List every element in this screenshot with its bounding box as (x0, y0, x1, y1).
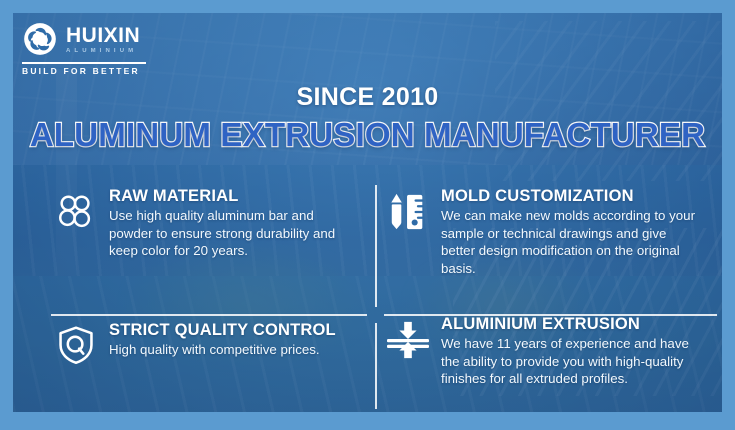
logo-text-block: HUIXIN ALUMINIUM (66, 25, 140, 54)
feature-text: RAW MATERIAL Use high quality aluminum b… (109, 187, 343, 260)
feature-description: We have 11 years of experience and have … (441, 335, 695, 388)
extrusion-press-icon (385, 315, 431, 388)
page-title: ALUMINUM EXTRUSION MANUFACTURER (13, 118, 722, 153)
feature-card-raw-material: RAW MATERIAL Use high quality aluminum b… (53, 187, 343, 260)
headline-block: SINCE 2010 ALUMINUM EXTRUSION MANUFACTUR… (13, 85, 722, 153)
banner-inner-frame: HUIXIN ALUMINIUM BUILD FOR BETTER SINCE … (13, 13, 722, 412)
feature-text: ALUMINIUM EXTRUSION We have 11 years of … (441, 315, 695, 388)
aluminum-billets-icon (53, 187, 99, 260)
feature-card-mold-customization: MOLD CUSTOMIZATION We can make new molds… (385, 187, 695, 277)
brand-tagline: BUILD FOR BETTER (22, 66, 200, 76)
brand-name: HUIXIN (66, 25, 140, 46)
feature-description: Use high quality aluminum bar and powder… (109, 207, 343, 260)
promo-banner: HUIXIN ALUMINIUM BUILD FOR BETTER SINCE … (0, 0, 735, 430)
pencil-ruler-icon (385, 187, 431, 277)
feature-text: STRICT QUALITY CONTROL High quality with… (109, 321, 343, 365)
logo-row: HUIXIN ALUMINIUM (20, 19, 200, 59)
feature-description: High quality with competitive prices. (109, 341, 343, 359)
feature-card-quality-control: STRICT QUALITY CONTROL High quality with… (53, 321, 343, 365)
feature-title: RAW MATERIAL (109, 187, 343, 205)
shield-quality-icon (53, 321, 99, 365)
brand-subtitle: ALUMINIUM (66, 48, 140, 54)
feature-grid: RAW MATERIAL Use high quality aluminum b… (25, 173, 710, 401)
eyebrow-text: SINCE 2010 (13, 85, 722, 110)
brand-logo: HUIXIN ALUMINIUM BUILD FOR BETTER (20, 19, 200, 76)
feature-card-aluminium-extrusion: ALUMINIUM EXTRUSION We have 11 years of … (385, 315, 695, 388)
logo-divider (22, 62, 146, 64)
feature-title: STRICT QUALITY CONTROL (109, 321, 343, 339)
feature-text: MOLD CUSTOMIZATION We can make new molds… (441, 187, 695, 277)
feature-description: We can make new molds according to your … (441, 207, 695, 277)
feature-title: ALUMINIUM EXTRUSION (441, 315, 695, 333)
feature-title: MOLD CUSTOMIZATION (441, 187, 695, 205)
recycle-swirl-logo-icon (20, 19, 60, 59)
